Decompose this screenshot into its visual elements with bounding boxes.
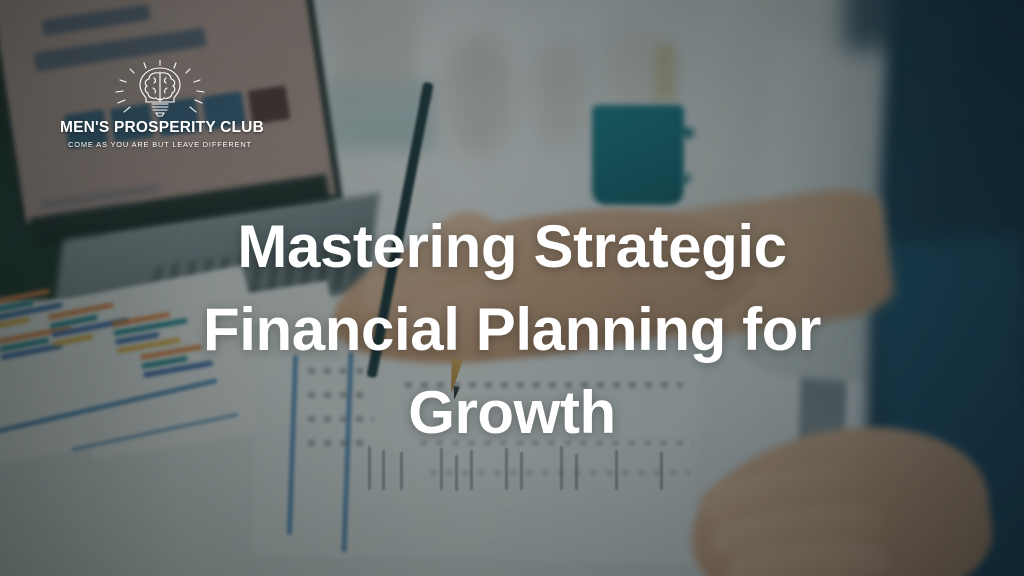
logo-name: MEN'S PROSPERITY CLUB: [60, 119, 260, 137]
title-line-3: Growth: [110, 372, 914, 455]
title-line-1: Mastering Strategic: [110, 206, 914, 289]
slide-title: Mastering Strategic Financial Planning f…: [0, 206, 1024, 454]
brand-logo[interactable]: MEN'S PROSPERITY CLUB COME AS YOU ARE BU…: [60, 60, 260, 149]
slide-canvas: MEN'S PROSPERITY CLUB COME AS YOU ARE BU…: [0, 0, 1024, 576]
title-line-2: Financial Planning for: [110, 289, 914, 372]
brain-lightbulb-icon: [60, 60, 260, 118]
logo-tagline: COME AS YOU ARE BUT LEAVE DIFFERENT: [60, 140, 260, 149]
